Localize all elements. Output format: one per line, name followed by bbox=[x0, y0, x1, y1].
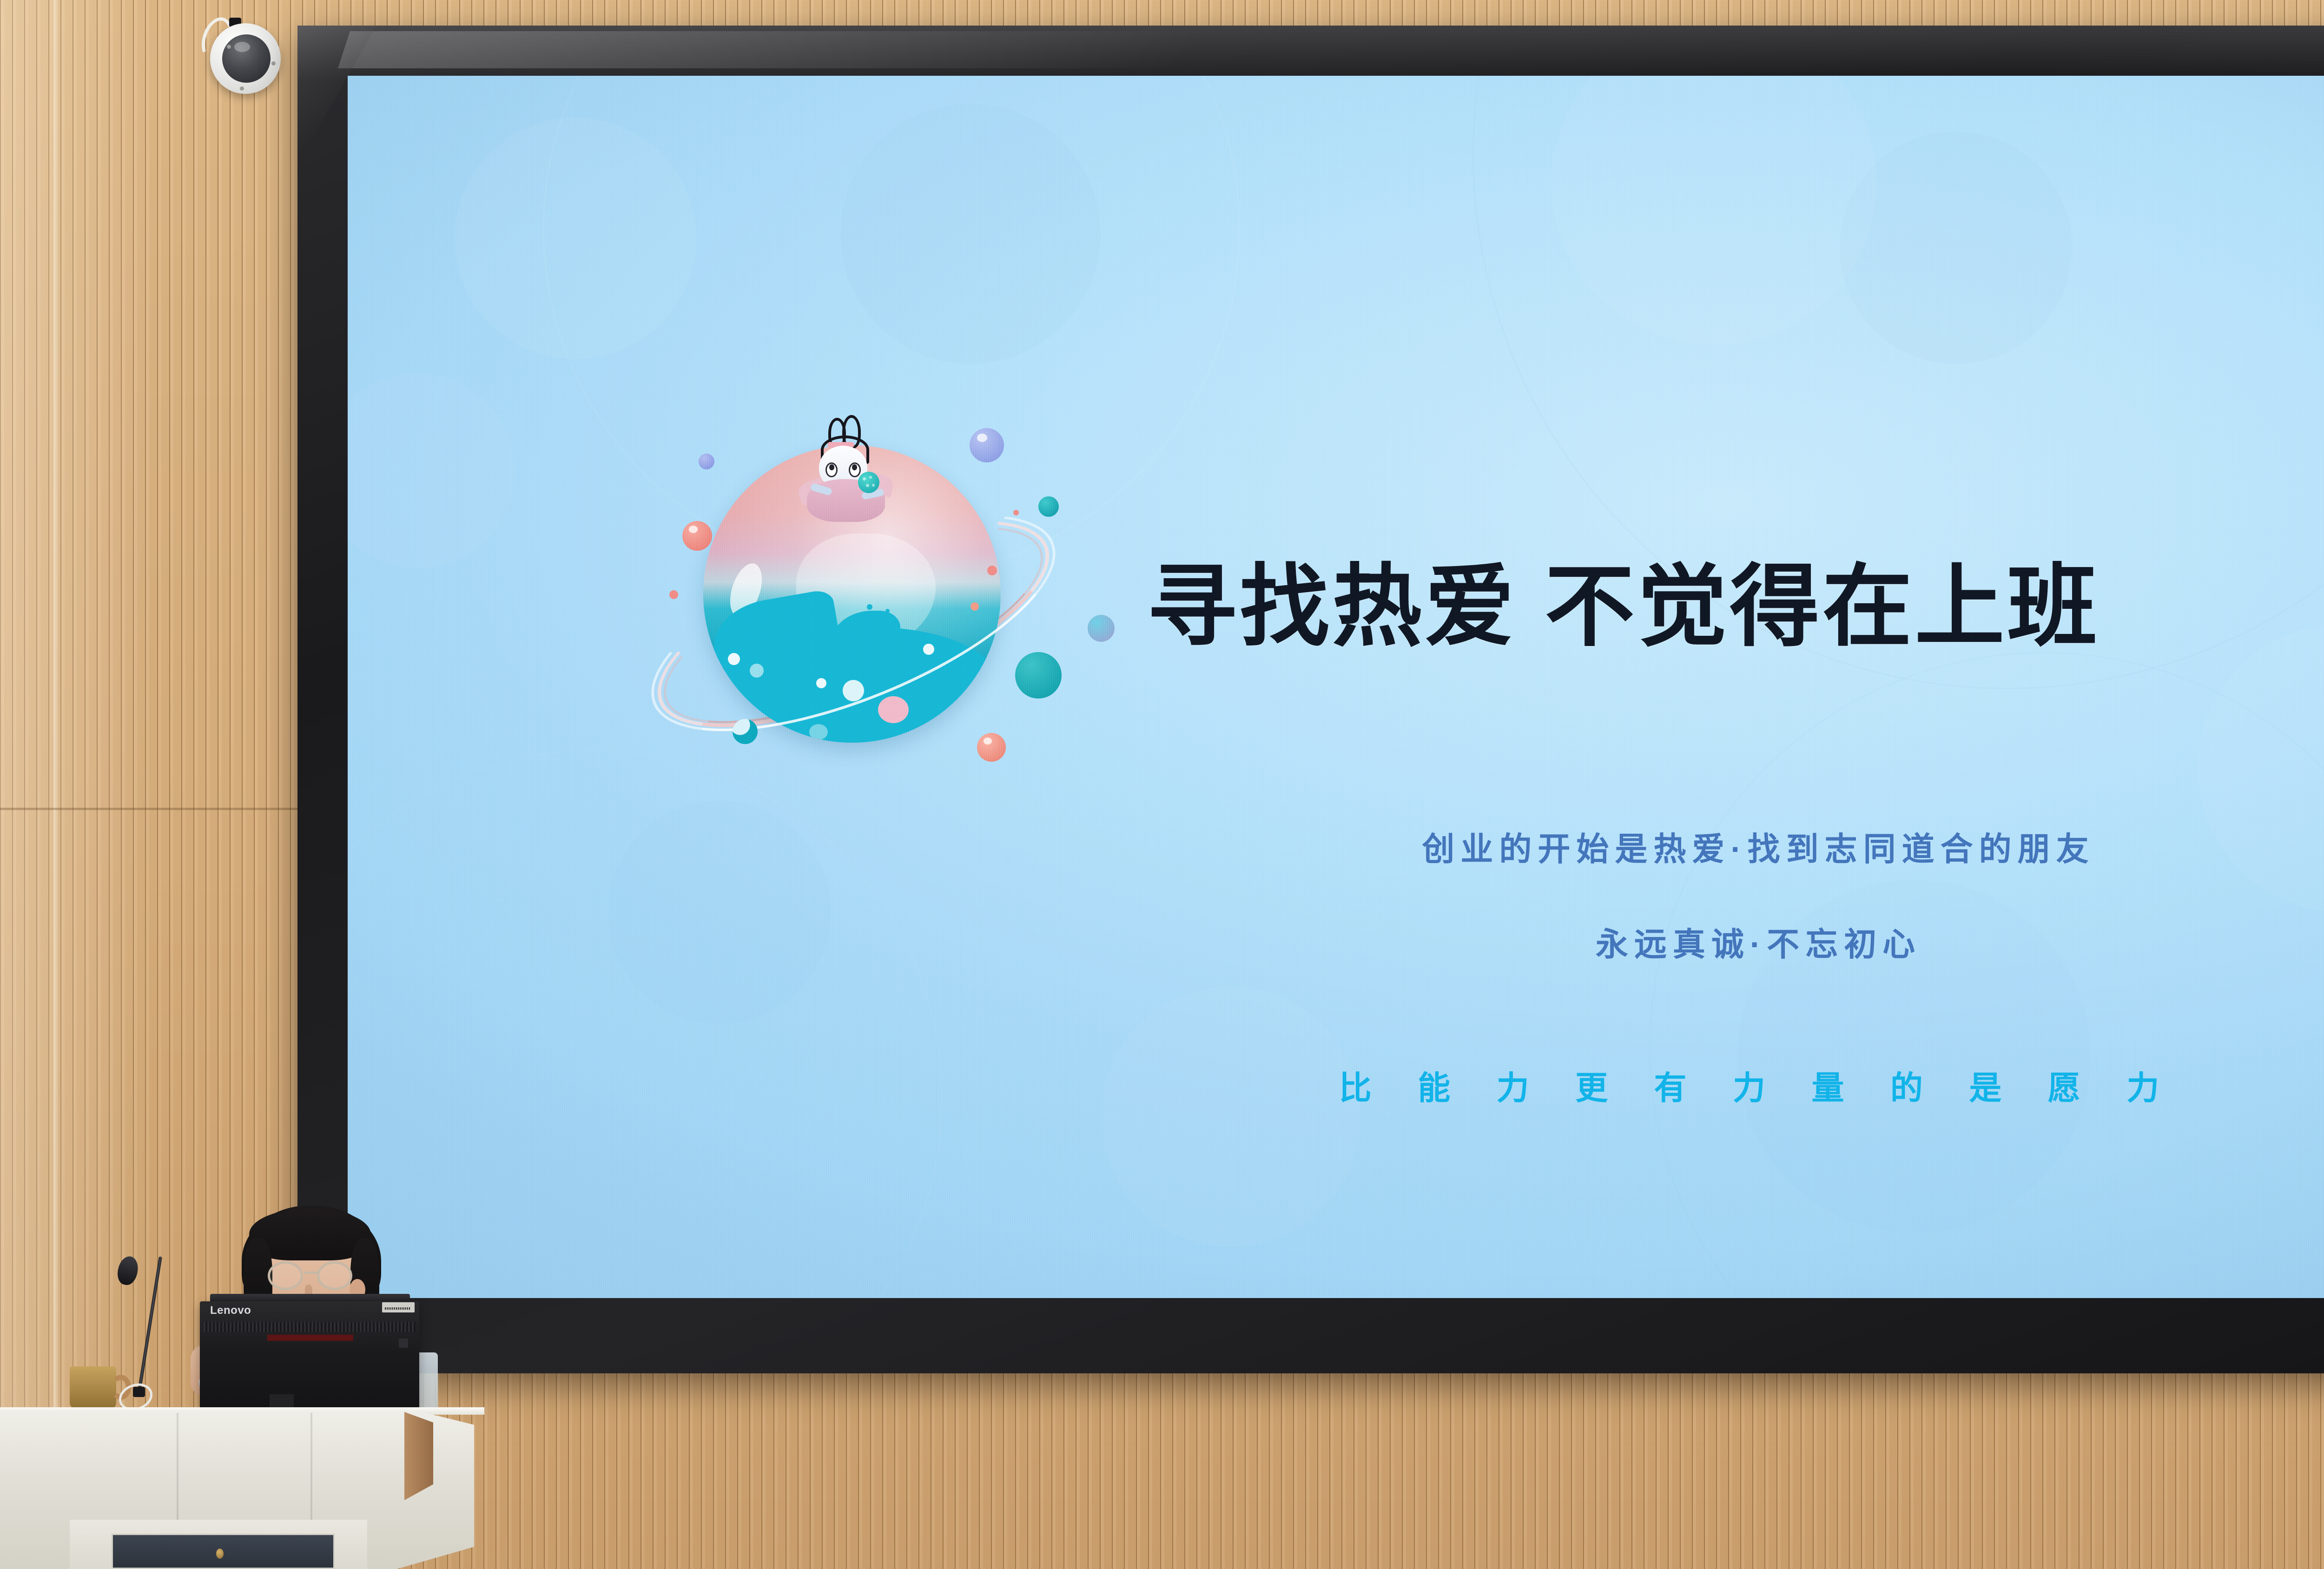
camera-screw bbox=[227, 45, 231, 49]
slide-subtitle-1: 创业的开始是热爱·找到志同道合的朋友 bbox=[1136, 823, 2324, 870]
camera-dome-lens-icon bbox=[222, 34, 271, 83]
bg-bubble bbox=[348, 373, 515, 568]
monitor-brand-label: Lenovo bbox=[210, 1304, 251, 1317]
podium-lock-icon bbox=[216, 1549, 224, 1559]
orb-blue-violet bbox=[1088, 615, 1115, 642]
ring-bead bbox=[987, 566, 997, 575]
slide-tagline: 比 能 力 更 有 力 量 的 是 愿 力 bbox=[1136, 1062, 2324, 1109]
ring-bead bbox=[1013, 510, 1019, 515]
slide-subtitle-2: 永远真诚·不忘初心 bbox=[1136, 918, 2324, 965]
monitor-accent-stripe bbox=[267, 1335, 353, 1341]
screenshot-root: 设备铭牌 bbox=[0, 0, 2324, 1569]
frame-gloss-highlight bbox=[338, 31, 1557, 68]
presenter-glasses-bridge bbox=[304, 1272, 320, 1274]
orb-teal-bottom bbox=[733, 719, 758, 744]
presenter-glasses-right bbox=[317, 1261, 352, 1290]
character-pupil-right bbox=[852, 464, 857, 470]
led-panel: 寻找热爱 不觉得在上班 创业的开始是热爱·找到志同道合的朋友 永远真诚·不忘初心… bbox=[348, 76, 2324, 1298]
ring-bead bbox=[728, 653, 740, 665]
mascot-character bbox=[799, 420, 897, 536]
monitor-power-button[interactable] bbox=[399, 1338, 408, 1348]
monitor-asset-tag bbox=[382, 1302, 415, 1312]
bg-swirl bbox=[348, 750, 943, 1298]
wall-light-gradient-left bbox=[0, 0, 153, 1569]
orb-coral-bottom bbox=[977, 733, 1006, 762]
bg-swirl bbox=[1649, 652, 2324, 1298]
orb-coral-left bbox=[682, 521, 712, 551]
orb-periwinkle-upper bbox=[970, 428, 1004, 462]
camera-screw bbox=[240, 86, 244, 91]
bg-bubble bbox=[1101, 987, 1361, 1247]
ring-bead bbox=[971, 602, 979, 611]
mug bbox=[70, 1366, 116, 1409]
slide-title: 寻找热爱 不觉得在上班 bbox=[1147, 534, 2100, 664]
monitor-vent bbox=[204, 1322, 416, 1332]
orb-periwinkle-small bbox=[699, 454, 714, 469]
camera-screw bbox=[271, 61, 276, 66]
presenter-glasses-left bbox=[268, 1261, 303, 1290]
wall-seam-left bbox=[53, 0, 58, 1569]
planet-crater bbox=[809, 724, 828, 740]
ring-bead bbox=[669, 590, 678, 599]
character-pupil-left bbox=[829, 464, 834, 470]
ring-bead bbox=[923, 644, 934, 655]
character-ball bbox=[858, 472, 879, 493]
planet-illustration bbox=[617, 364, 1129, 829]
ring-bead bbox=[816, 678, 826, 688]
led-display-frame: 设备铭牌 bbox=[297, 26, 2324, 1373]
orb-teal-large bbox=[1015, 652, 1062, 699]
lenovo-monitor bbox=[200, 1301, 419, 1411]
orb-teal-small bbox=[1038, 496, 1059, 517]
planet-crater-pink bbox=[878, 696, 909, 723]
